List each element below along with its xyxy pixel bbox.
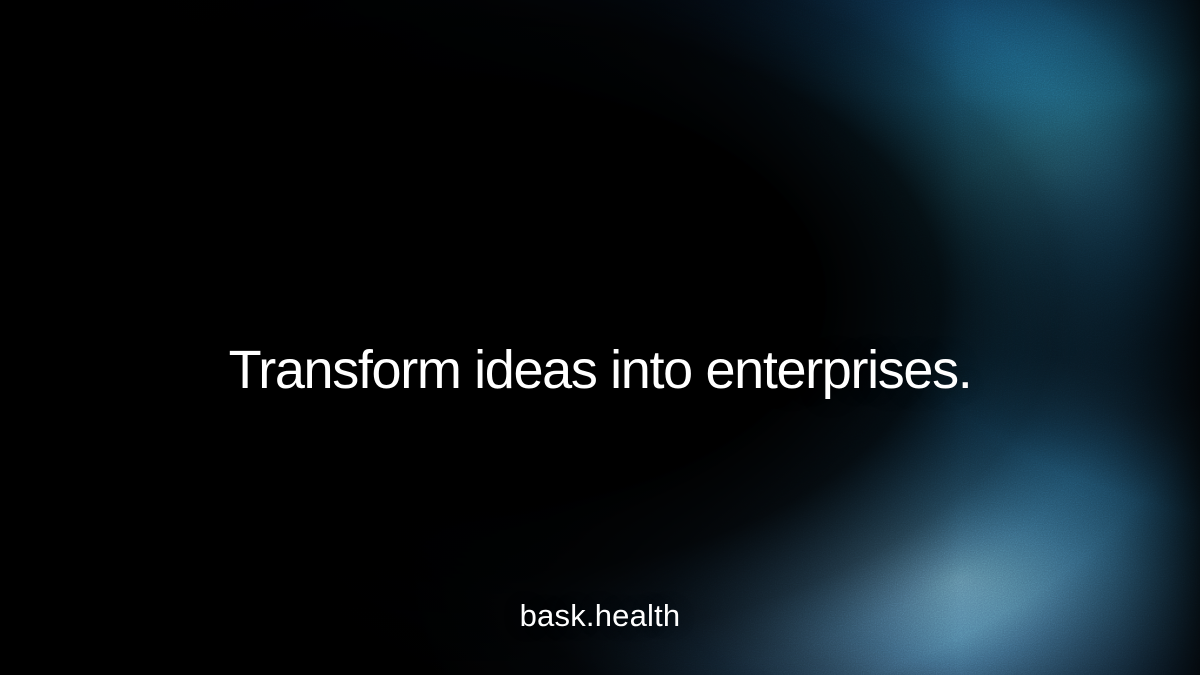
hero-headline: Transform ideas into enterprises. xyxy=(0,342,1200,399)
hero-canvas: Transform ideas into enterprises. bask.h… xyxy=(0,0,1200,675)
hero-content: Transform ideas into enterprises. bask.h… xyxy=(0,0,1200,675)
brand-wordmark: bask.health xyxy=(0,598,1200,634)
